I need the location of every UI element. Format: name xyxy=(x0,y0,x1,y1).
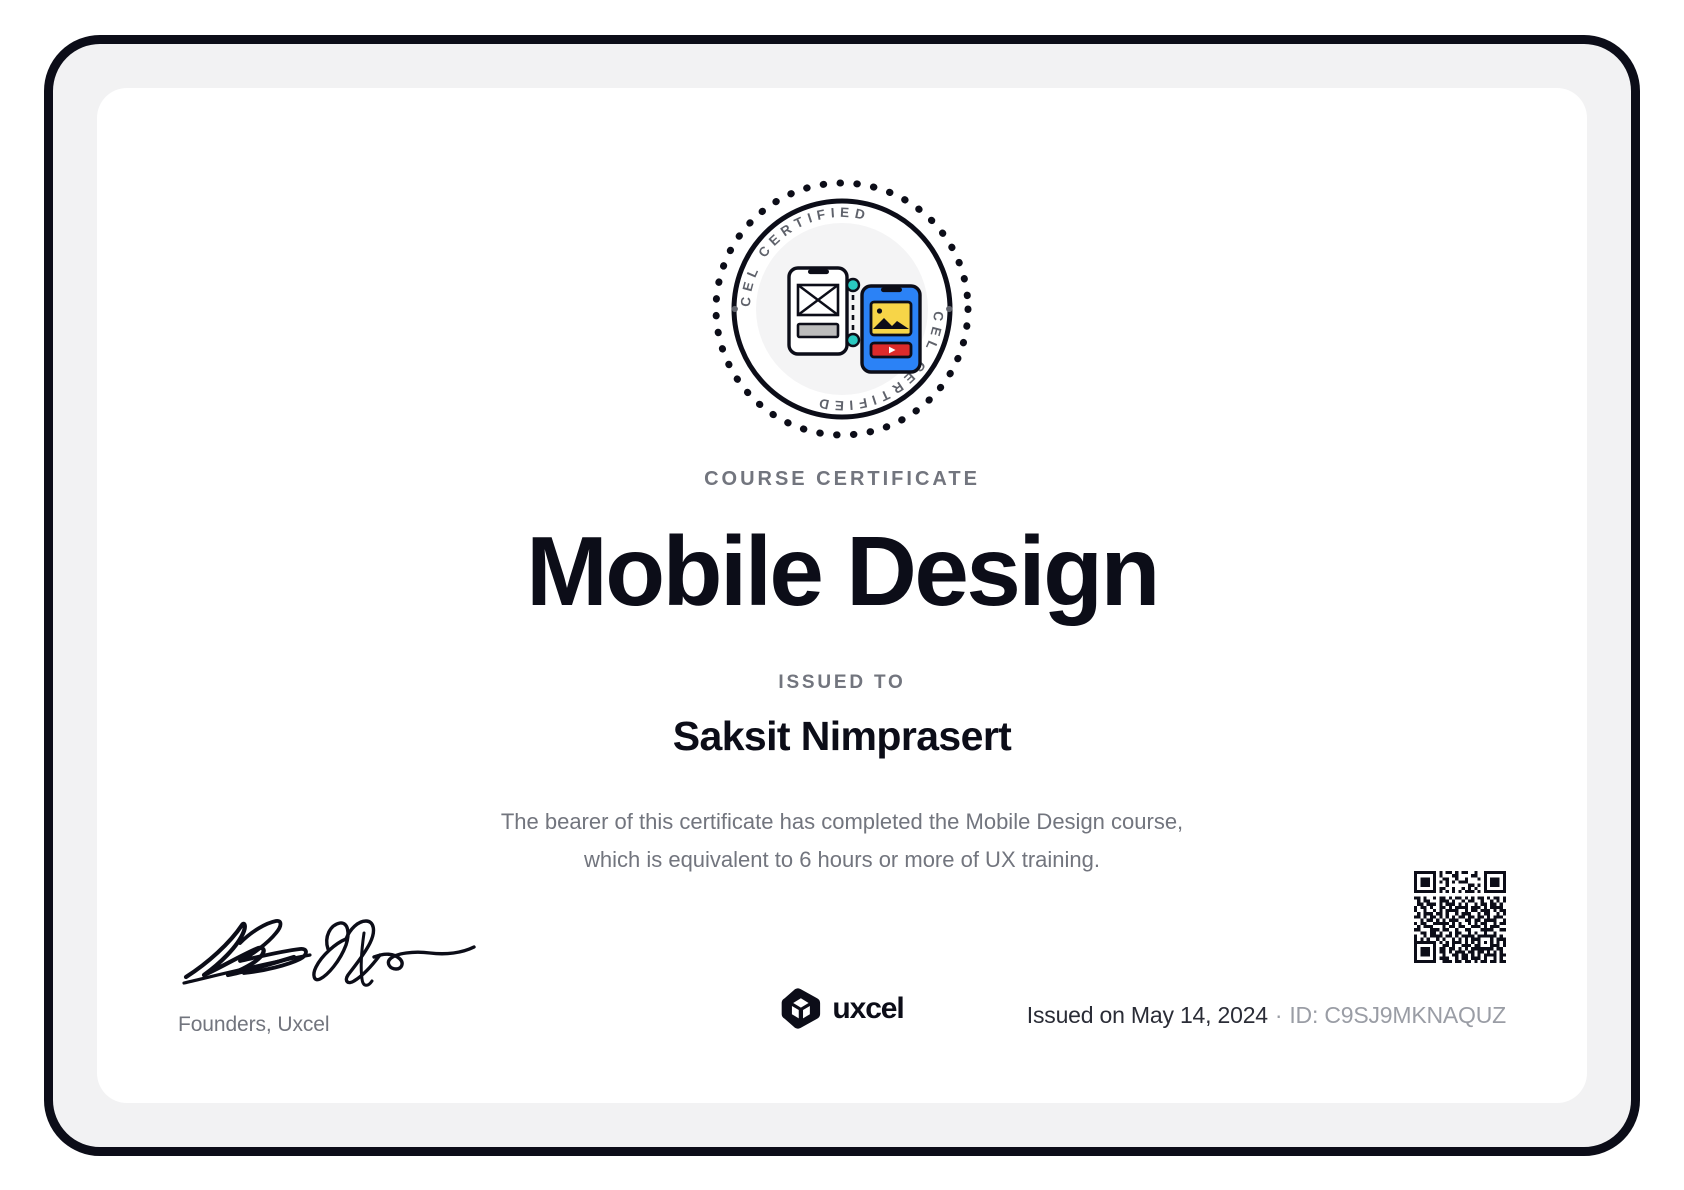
signature-caption: Founders, Uxcel xyxy=(178,1013,598,1037)
description-line-1: The bearer of this certificate has compl… xyxy=(97,803,1587,841)
certificate-id-value: C9SJ9MKNAQUZ xyxy=(1324,1002,1506,1028)
issued-on-text: Issued on May 14, 2024 xyxy=(1027,1002,1268,1028)
signature-block: Founders, Uxcel xyxy=(178,913,598,1037)
recipient-name: Saksit Nimprasert xyxy=(97,713,1587,760)
certificate-card: UXCEL CERTIFIED UXCEL CERTIFIED xyxy=(97,88,1587,1103)
handwritten-signature-icon xyxy=(178,913,478,1001)
course-title: Mobile Design xyxy=(97,513,1587,631)
certificate-frame: UXCEL CERTIFIED UXCEL CERTIFIED xyxy=(44,35,1640,1156)
issue-meta: Issued on May 14, 2024·ID: C9SJ9MKNAQUZ xyxy=(1027,1002,1506,1029)
uxcel-wordmark: uxcel xyxy=(832,992,903,1026)
issued-to-label: ISSUED TO xyxy=(97,672,1587,694)
uxcel-hexagon-logo-icon xyxy=(780,988,821,1029)
qr-code-icon[interactable] xyxy=(1414,871,1506,963)
uxcel-certified-badge-icon: UXCEL CERTIFIED UXCEL CERTIFIED xyxy=(706,173,978,445)
certificate-id-label: ID: xyxy=(1289,1002,1318,1028)
meta-separator: · xyxy=(1268,1002,1289,1028)
uxcel-brand-logo: uxcel xyxy=(780,988,903,1029)
description-line-2: which is equivalent to 6 hours or more o… xyxy=(97,841,1587,879)
certificate-kicker: COURSE CERTIFICATE xyxy=(97,468,1587,491)
certificate-description: The bearer of this certificate has compl… xyxy=(97,803,1587,879)
